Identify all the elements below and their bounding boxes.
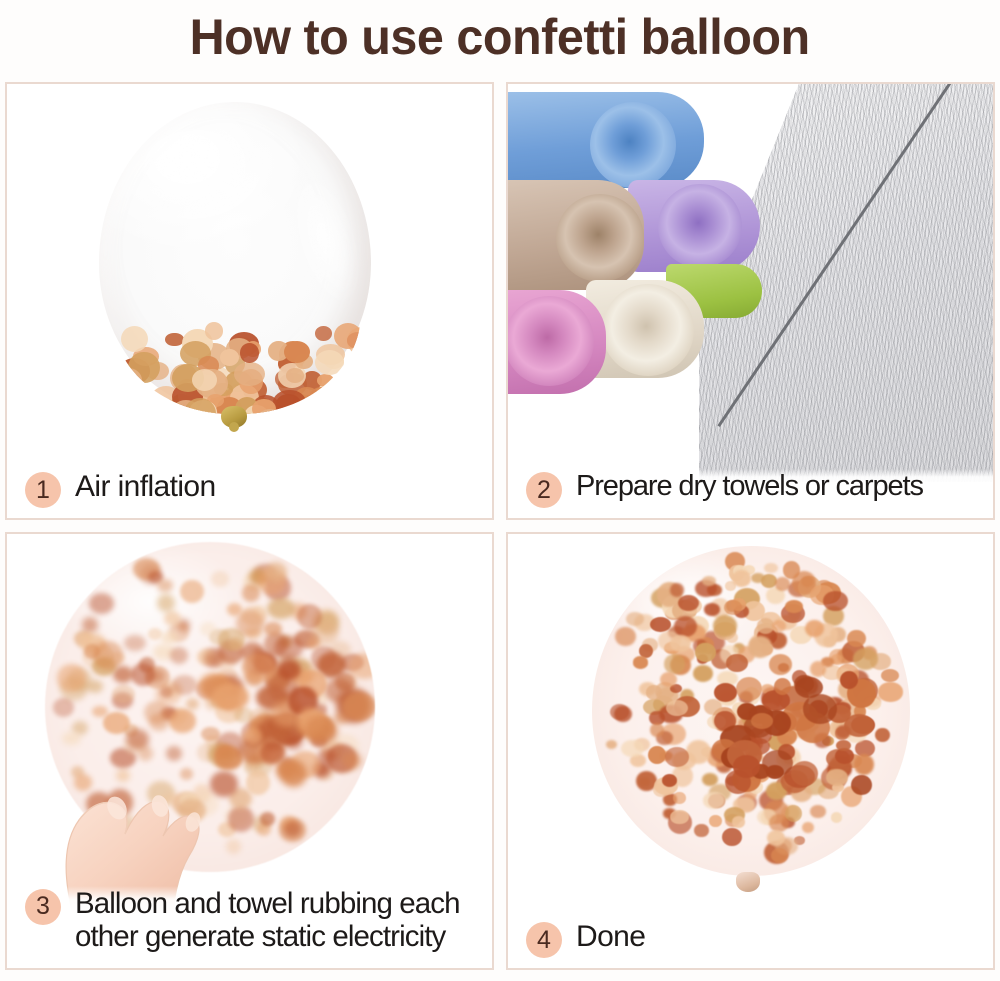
confetti-dot bbox=[315, 350, 344, 375]
confetti-dot bbox=[772, 620, 785, 632]
confetti-dot bbox=[57, 664, 85, 692]
confetti-dot bbox=[284, 341, 310, 363]
balloon-knot-tail bbox=[229, 422, 239, 432]
confetti-dot bbox=[769, 654, 792, 675]
towel-purple-roll bbox=[658, 184, 742, 268]
confetti-dot bbox=[732, 570, 752, 587]
towel-pink-roll bbox=[506, 296, 594, 386]
confetti-dot bbox=[329, 388, 356, 410]
confetti-dot bbox=[686, 740, 711, 764]
confetti-dot bbox=[633, 656, 648, 668]
confetti-dot bbox=[274, 636, 303, 660]
confetti-dot bbox=[242, 653, 276, 681]
confetti-dot bbox=[709, 815, 721, 828]
step-number-badge: 2 bbox=[526, 472, 562, 508]
confetti-dot bbox=[626, 612, 644, 626]
confetti-dot bbox=[693, 665, 713, 682]
confetti-dot bbox=[315, 326, 332, 341]
confetti-dot bbox=[94, 641, 123, 670]
confetti-dot bbox=[757, 618, 774, 633]
step-number-badge: 1 bbox=[25, 472, 61, 508]
confetti-dot bbox=[881, 669, 899, 682]
step-4-caption: 4 Done bbox=[508, 919, 993, 968]
confetti-dot bbox=[748, 636, 772, 658]
confetti-dot bbox=[242, 584, 260, 602]
confetti-dot bbox=[783, 561, 801, 578]
confetti-dot bbox=[148, 628, 162, 640]
confetti-dot bbox=[875, 728, 889, 742]
infographic-page: How to use confetti balloon 1 Air inflat… bbox=[0, 0, 1000, 981]
confetti-dot bbox=[810, 661, 826, 677]
confetti-dot bbox=[803, 694, 838, 724]
confetti-dot bbox=[246, 770, 271, 795]
confetti-dot bbox=[732, 816, 745, 827]
confetti-dot bbox=[267, 598, 295, 619]
confetti-dot bbox=[831, 812, 843, 823]
confetti-dot bbox=[648, 746, 666, 764]
confetti-dot bbox=[165, 333, 184, 347]
confetti-dot bbox=[702, 576, 715, 586]
confetti-dot bbox=[131, 663, 155, 686]
step-panel-4: 4 Done bbox=[506, 532, 995, 970]
step-panel-2: 2 Prepare dry towels or carpets bbox=[506, 82, 995, 520]
confetti-dot bbox=[317, 374, 334, 387]
step-caption-text: Prepare dry towels or carpets bbox=[576, 469, 923, 503]
confetti-dot bbox=[670, 635, 691, 652]
confetti-dot bbox=[704, 603, 720, 616]
confetti-dot bbox=[124, 635, 146, 651]
confetti-dot bbox=[854, 754, 875, 775]
step-3-caption: 3 Balloon and towel rubbing each other g… bbox=[7, 886, 492, 968]
confetti-dot bbox=[200, 622, 216, 635]
confetti-dot bbox=[714, 683, 737, 702]
confetti-dot bbox=[670, 810, 688, 824]
confetti-dot bbox=[161, 631, 178, 644]
confetti-dot bbox=[785, 805, 802, 822]
step-caption-text: Balloon and towel rubbing each other gen… bbox=[75, 886, 460, 954]
step-caption-text: Done bbox=[576, 919, 645, 954]
confetti-dot bbox=[764, 563, 778, 574]
confetti-dot bbox=[234, 362, 265, 386]
confetti-dot bbox=[343, 692, 375, 721]
balloon-highlight-icon bbox=[139, 128, 259, 214]
step-panel-3: 3 Balloon and towel rubbing each other g… bbox=[5, 532, 494, 970]
confetti-dot bbox=[703, 792, 726, 809]
towel-taupe-roll bbox=[556, 194, 644, 282]
step-number-badge: 3 bbox=[25, 889, 61, 925]
confetti-dot bbox=[664, 654, 685, 673]
confetti-dot bbox=[82, 617, 98, 632]
confetti-dot bbox=[260, 812, 274, 826]
confetti-dot bbox=[621, 740, 644, 758]
page-title-bar: How to use confetti balloon bbox=[0, 0, 1000, 74]
step-1-illustration bbox=[7, 84, 492, 518]
step-4-illustration bbox=[508, 534, 993, 968]
confetti-dot bbox=[157, 579, 173, 591]
confetti-dot bbox=[157, 594, 175, 612]
confetti-dot bbox=[810, 805, 825, 818]
confetti-dot bbox=[318, 749, 336, 763]
confetti-dot bbox=[615, 627, 635, 646]
confetti-dot bbox=[212, 683, 249, 711]
confetti-dot bbox=[851, 775, 872, 795]
confetti-dot bbox=[665, 747, 689, 767]
confetti-dot bbox=[121, 326, 148, 352]
confetti-dot bbox=[650, 723, 664, 736]
confetti-dot bbox=[305, 716, 338, 745]
confetti-dot bbox=[342, 752, 362, 769]
confetti-dot bbox=[606, 740, 617, 749]
confetti-dot bbox=[694, 824, 708, 838]
step-number-badge: 4 bbox=[526, 922, 562, 958]
finished-balloon-shape bbox=[592, 546, 910, 876]
confetti-dot bbox=[89, 593, 114, 614]
confetti-dot bbox=[53, 698, 74, 717]
confetti-dot bbox=[840, 671, 858, 689]
confetti-dot bbox=[826, 769, 848, 786]
step-caption-text: Air inflation bbox=[75, 469, 216, 504]
confetti-dot bbox=[751, 573, 765, 584]
confetti-dot bbox=[702, 773, 718, 786]
confetti-dot bbox=[610, 704, 629, 720]
confetti-dot bbox=[802, 822, 814, 833]
confetti-dot bbox=[172, 675, 198, 696]
confetti-dot bbox=[286, 368, 304, 383]
confetti-dot bbox=[297, 604, 322, 629]
confetti-dot bbox=[722, 828, 742, 847]
balloon-knot bbox=[736, 872, 760, 892]
confetti-dot bbox=[276, 760, 296, 779]
steps-grid: 1 Air inflation bbox=[5, 82, 995, 966]
confetti-dot bbox=[823, 591, 848, 611]
confetti-dot bbox=[678, 595, 699, 611]
confetti-dot bbox=[285, 734, 302, 749]
confetti-dot bbox=[733, 755, 760, 777]
confetti-dot bbox=[674, 616, 697, 637]
step-2-illustration bbox=[508, 84, 993, 518]
confetti-dot bbox=[673, 792, 685, 804]
towel-blue-roll bbox=[590, 102, 676, 188]
confetti-dot bbox=[847, 630, 865, 647]
step-1-caption: 1 Air inflation bbox=[7, 469, 492, 518]
confetti-dot bbox=[334, 323, 361, 349]
page-title: How to use confetti balloon bbox=[190, 12, 810, 62]
confetti-dot bbox=[186, 698, 200, 710]
confetti-dot bbox=[713, 615, 737, 637]
confetti-dot bbox=[751, 713, 773, 729]
confetti-pile bbox=[111, 308, 361, 414]
confetti-dot bbox=[205, 322, 223, 339]
confetti-dot bbox=[878, 682, 902, 701]
confetti-dot bbox=[240, 343, 259, 363]
step-panel-1: 1 Air inflation bbox=[5, 82, 494, 520]
confetti-dot bbox=[771, 848, 788, 863]
confetti-dot bbox=[180, 580, 203, 603]
confetti-dot bbox=[666, 700, 688, 716]
confetti-dot bbox=[670, 583, 684, 597]
towel-cream-roll bbox=[602, 284, 694, 376]
confetti-dot bbox=[170, 647, 188, 664]
rolled-towels-image bbox=[508, 84, 760, 436]
confetti-dot bbox=[211, 571, 229, 587]
confetti-dot bbox=[662, 774, 677, 786]
confetti-dot bbox=[114, 368, 141, 392]
confetti-dot bbox=[726, 654, 747, 672]
confetti-dot bbox=[348, 653, 375, 678]
step-2-caption: 2 Prepare dry towels or carpets bbox=[508, 469, 993, 518]
